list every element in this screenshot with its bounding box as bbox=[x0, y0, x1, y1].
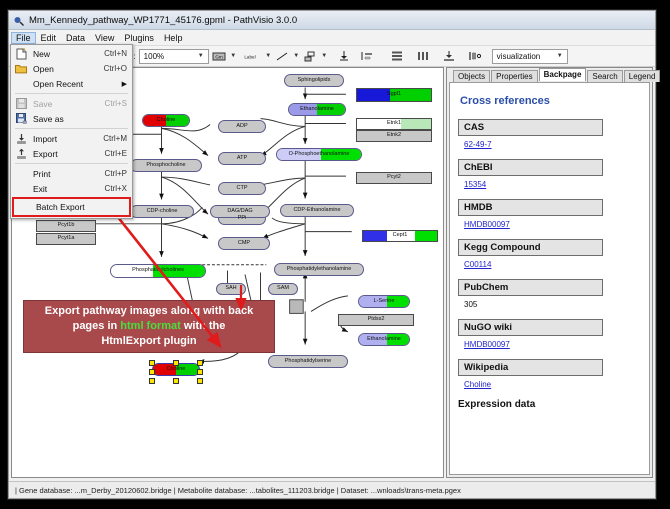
menu-file[interactable]: File bbox=[11, 32, 36, 44]
align-left-icon[interactable] bbox=[360, 49, 375, 63]
selection-handle[interactable] bbox=[149, 378, 155, 384]
xref-source-hmdb: HMDB bbox=[458, 199, 603, 216]
backpage-panel: Cross references CAS 62-49-7 ChEBI 15354… bbox=[449, 82, 650, 475]
pathway-node[interactable]: Phosphocholine bbox=[130, 159, 202, 172]
chevron-down-icon: ▼ bbox=[196, 53, 206, 59]
menu-label: Export bbox=[29, 149, 105, 159]
blank-icon bbox=[13, 77, 29, 90]
stack-vertical-icon[interactable] bbox=[390, 49, 405, 63]
pathvisio-app-icon bbox=[13, 14, 25, 26]
visualization-combo[interactable]: visualization ▼ bbox=[492, 49, 568, 64]
node-label: Etnk1 bbox=[387, 121, 401, 127]
xref-link-cas[interactable]: 62-49-7 bbox=[464, 140, 641, 149]
pathway-node[interactable]: Choline bbox=[142, 114, 190, 127]
line-button[interactable] bbox=[275, 49, 290, 63]
node-label: Choline bbox=[167, 367, 186, 373]
node-label: Phosphatidylserine bbox=[285, 359, 331, 365]
sidebar-tabs: Objects Properties Backpage Search Legen… bbox=[447, 68, 652, 82]
node-label: Ethanolamine bbox=[300, 107, 334, 113]
node-label: Sgpl1 bbox=[387, 92, 401, 98]
node-label: SAM bbox=[277, 286, 289, 292]
menu-label: New bbox=[29, 49, 104, 59]
blank-icon bbox=[13, 167, 29, 180]
node-label: O-Phosphoethanolamine bbox=[289, 152, 350, 158]
selection-handle[interactable] bbox=[149, 360, 155, 366]
selection-handle[interactable] bbox=[173, 378, 179, 384]
menu-item-print[interactable]: Print Ctrl+P bbox=[11, 166, 132, 181]
xref-link-hmdb[interactable]: HMDB00097 bbox=[464, 220, 641, 229]
annotation-arrow-icon bbox=[102, 198, 232, 358]
pathway-node[interactable]: O-Phosphoethanolamine bbox=[276, 148, 362, 161]
menu-item-open-recent[interactable]: Open Recent ▶ bbox=[11, 76, 132, 91]
node-label: Ethanolamine bbox=[367, 337, 401, 343]
node-label: CTP bbox=[237, 186, 248, 192]
menu-accel: Ctrl+M bbox=[103, 134, 132, 143]
node-label: Sphingolipids bbox=[298, 78, 331, 84]
selection-handle[interactable] bbox=[173, 360, 179, 366]
menu-label: Open bbox=[29, 64, 104, 74]
menu-item-save-as[interactable]: Save as bbox=[11, 111, 132, 126]
tab-objects[interactable]: Objects bbox=[453, 70, 490, 82]
menu-item-save: Save Ctrl+S bbox=[11, 96, 132, 111]
xref-source-kegg: Kegg Compound bbox=[458, 239, 603, 256]
node-label: Ptdss2 bbox=[368, 317, 385, 323]
menu-accel: Ctrl+S bbox=[105, 99, 132, 108]
menu-edit[interactable]: Edit bbox=[36, 32, 62, 44]
new-document-icon bbox=[13, 47, 29, 60]
selection-handle[interactable] bbox=[197, 369, 203, 375]
menu-label: Batch Export bbox=[32, 202, 129, 212]
menu-item-exit[interactable]: Exit Ctrl+X bbox=[11, 181, 132, 196]
node-label: Phosphocholine bbox=[146, 163, 185, 169]
pathway-node[interactable]: ADP bbox=[218, 120, 266, 133]
pathway-gene-node[interactable]: Sgpl1 bbox=[356, 88, 432, 102]
menu-separator bbox=[15, 128, 128, 129]
menu-item-export[interactable]: Export Ctrl+E bbox=[11, 146, 132, 161]
menu-label: Open Recent bbox=[29, 79, 122, 89]
node-label: Pcyt2 bbox=[387, 175, 401, 181]
menu-accel: Ctrl+N bbox=[104, 49, 132, 58]
node-label: CDP-Ethanolamine bbox=[293, 208, 340, 214]
window-title: Mm_Kennedy_pathway_WP1771_45176.gpml - P… bbox=[29, 15, 297, 26]
submenu-arrow-icon: ▶ bbox=[122, 80, 132, 88]
pathway-gene-node[interactable]: Pcyt1b bbox=[36, 220, 96, 232]
menu-label: Import bbox=[29, 134, 103, 144]
cross-references-heading: Cross references bbox=[460, 95, 641, 107]
xref-source-nugo: NuGO wiki bbox=[458, 319, 603, 336]
menu-item-new[interactable]: New Ctrl+N bbox=[11, 46, 132, 61]
pathway-node[interactable]: Sphingolipids bbox=[284, 74, 344, 87]
menu-label: Exit bbox=[29, 184, 105, 194]
export-icon bbox=[13, 147, 29, 160]
pathway-gene-node[interactable]: Ptdss2 bbox=[338, 314, 414, 326]
svg-text:Label: Label bbox=[245, 54, 256, 59]
stack-horizontal-icon[interactable] bbox=[416, 49, 431, 63]
blank-icon bbox=[13, 182, 29, 195]
selection-handle[interactable] bbox=[197, 378, 203, 384]
datanode-dropdown-arrow[interactable]: ▼ bbox=[230, 53, 237, 59]
pathway-node[interactable]: ATP bbox=[218, 152, 266, 165]
shape-button[interactable] bbox=[303, 49, 318, 63]
common-height-icon[interactable] bbox=[468, 49, 483, 63]
pathway-node[interactable]: L-Serine bbox=[358, 295, 410, 308]
xref-source-cas: CAS bbox=[458, 119, 603, 136]
node-label: CMP bbox=[238, 241, 250, 247]
file-menu-dropdown: New Ctrl+N Open Ctrl+O Open Recent ▶ bbox=[10, 44, 133, 219]
selection-handle[interactable] bbox=[149, 369, 155, 375]
node-label: PPi bbox=[238, 216, 247, 222]
xref-source-pubchem: PubChem bbox=[458, 279, 603, 296]
menu-label: Print bbox=[29, 169, 105, 179]
menu-accel: Ctrl+O bbox=[104, 64, 132, 73]
menu-accel: Ctrl+P bbox=[105, 169, 132, 178]
pathway-node[interactable]: CDP-Ethanolamine bbox=[280, 204, 354, 217]
node-label: Choline bbox=[157, 118, 176, 124]
line-dropdown-arrow[interactable]: ▼ bbox=[293, 53, 300, 59]
status-text: | Gene database: ...m_Derby_20120602.bri… bbox=[9, 486, 461, 495]
chevron-down-icon: ▼ bbox=[555, 53, 565, 59]
pathway-node[interactable]: Ethanolamine bbox=[358, 333, 410, 346]
node-label: Phosphatidylethanolamine bbox=[287, 267, 352, 273]
xref-value-pubchem: 305 bbox=[464, 300, 641, 309]
pathway-gene-node[interactable]: Cept1 bbox=[362, 230, 438, 242]
menu-item-import[interactable]: Import Ctrl+M bbox=[11, 131, 132, 146]
xref-link-wikipedia[interactable]: Choline bbox=[464, 380, 641, 389]
xref-source-wikipedia: Wikipedia bbox=[458, 359, 603, 376]
menu-data[interactable]: Data bbox=[61, 32, 90, 44]
menu-plugins[interactable]: Plugins bbox=[119, 32, 159, 44]
save-as-icon bbox=[13, 112, 29, 125]
xref-link-kegg[interactable]: C00114 bbox=[464, 260, 641, 269]
tab-properties[interactable]: Properties bbox=[491, 70, 537, 82]
node-label: ATP bbox=[237, 156, 247, 162]
zoom-value: 100% bbox=[144, 52, 196, 61]
menu-item-batch-export[interactable]: Batch Export bbox=[12, 197, 131, 217]
open-folder-icon bbox=[13, 62, 29, 75]
pathway-gene-node[interactable]: Pcyt2 bbox=[356, 172, 432, 184]
import-icon bbox=[13, 132, 29, 145]
tab-legend[interactable]: Legend bbox=[624, 70, 661, 82]
menu-label: Save as bbox=[29, 114, 127, 124]
menu-item-open[interactable]: Open Ctrl+O bbox=[11, 61, 132, 76]
menu-view[interactable]: View bbox=[90, 32, 119, 44]
node-label: Cept1 bbox=[393, 233, 408, 239]
annotation-arrow-small-icon bbox=[227, 283, 257, 323]
node-label: Pcyt1b bbox=[58, 223, 75, 229]
menu-accel: Ctrl+X bbox=[105, 184, 132, 193]
pathway-node[interactable]: CTP bbox=[218, 182, 266, 195]
node-label: L-Serine bbox=[374, 299, 395, 305]
selection-handle[interactable] bbox=[197, 360, 203, 366]
zoom-combo[interactable]: 100% ▼ bbox=[139, 49, 209, 64]
pathway-gene-node[interactable]: Etnk1 bbox=[356, 118, 432, 130]
shape-dropdown-arrow[interactable]: ▼ bbox=[321, 53, 328, 59]
label-dropdown-arrow[interactable]: ▼ bbox=[265, 53, 272, 59]
pathway-node[interactable]: SAM bbox=[268, 283, 298, 295]
common-width-icon[interactable] bbox=[442, 49, 457, 63]
xref-link-chebi[interactable]: 15354 bbox=[464, 180, 641, 189]
label-button[interactable]: Label bbox=[240, 49, 262, 63]
status-bar: | Gene database: ...m_Derby_20120602.bri… bbox=[9, 481, 655, 498]
xref-link-nugo[interactable]: HMDB00097 bbox=[464, 340, 641, 349]
tab-backpage[interactable]: Backpage bbox=[539, 68, 587, 81]
datanode-button[interactable]: Grn bbox=[212, 49, 227, 63]
visualization-value: visualization bbox=[497, 52, 555, 61]
pathway-node[interactable]: Phosphatidylethanolamine bbox=[274, 263, 364, 276]
menu-accel: Ctrl+E bbox=[105, 149, 132, 158]
menu-separator bbox=[15, 93, 128, 94]
pathvisio-window: Mm_Kennedy_pathway_WP1771_45176.gpml - P… bbox=[8, 10, 656, 499]
save-disk-icon bbox=[13, 97, 29, 110]
menu-label: Save bbox=[29, 99, 105, 109]
xref-source-chebi: ChEBI bbox=[458, 159, 603, 176]
pathway-node[interactable]: Phosphatidylserine bbox=[268, 355, 348, 368]
title-bar: Mm_Kennedy_pathway_WP1771_45176.gpml - P… bbox=[9, 11, 655, 30]
align-top-icon[interactable] bbox=[337, 49, 352, 63]
expression-data-heading: Expression data bbox=[458, 399, 641, 410]
menu-separator bbox=[15, 163, 128, 164]
blank-icon bbox=[16, 201, 32, 214]
tab-search[interactable]: Search bbox=[587, 70, 622, 82]
screenshot-root: Mm_Kennedy_pathway_WP1771_45176.gpml - P… bbox=[0, 0, 670, 509]
svg-text:Grn: Grn bbox=[216, 54, 224, 59]
pathway-gene-node[interactable]: Pcyt1a bbox=[36, 233, 96, 245]
node-label: Etnk2 bbox=[387, 133, 401, 139]
side-panel: Objects Properties Backpage Search Legen… bbox=[446, 67, 653, 478]
node-label: Pcyt1a bbox=[58, 236, 75, 242]
menu-help[interactable]: Help bbox=[159, 32, 188, 44]
node-label: ADP bbox=[236, 124, 247, 130]
pathway-gene-node[interactable]: Etnk2 bbox=[356, 130, 432, 142]
pathway-node[interactable]: Ethanolamine bbox=[288, 103, 346, 116]
